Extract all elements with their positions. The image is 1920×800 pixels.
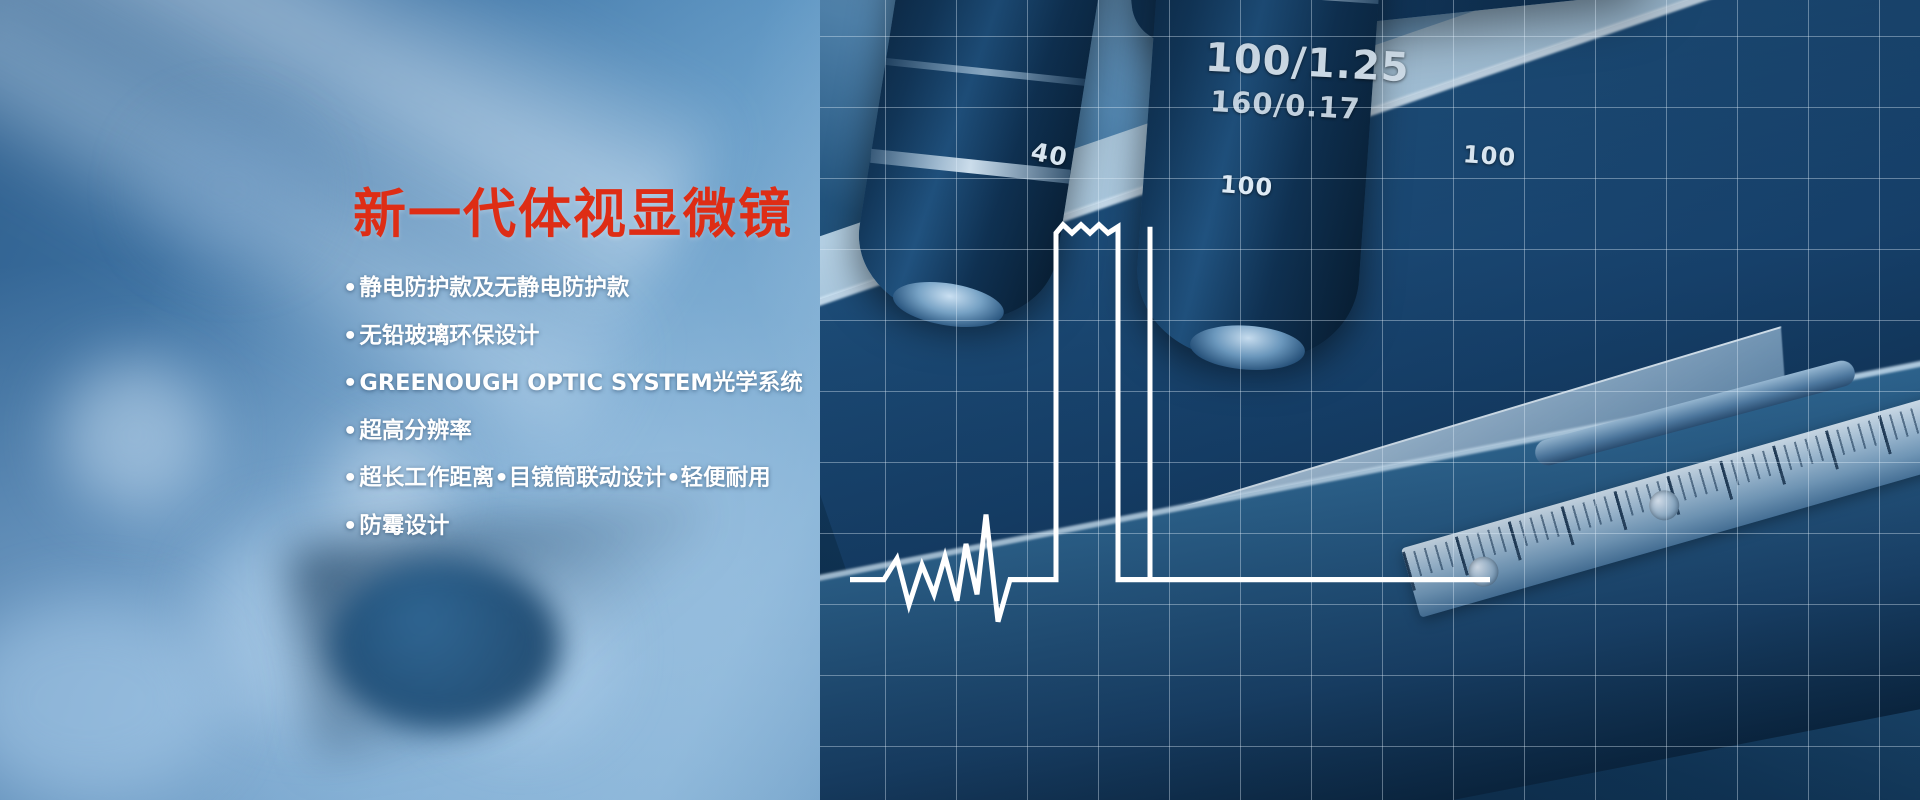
bokeh-blob bbox=[60, 360, 210, 510]
objective-band bbox=[885, 58, 1085, 86]
objective-label-100x-right: 100 bbox=[1462, 140, 1517, 172]
list-item: •超高分辨率 bbox=[343, 420, 983, 443]
list-item: •GREENOUGH OPTIC SYSTEM光学系统 bbox=[343, 372, 983, 395]
background-sample-blob bbox=[330, 560, 560, 730]
list-item-label: 静电防护款及无静电防护款 bbox=[359, 275, 629, 301]
objective-band bbox=[1157, 0, 1380, 4]
feature-list: •静电防护款及无静电防护款 •无铅玻璃环保设计 •GREENOUGH OPTIC… bbox=[343, 277, 983, 537]
bullet-marker-icon: • bbox=[343, 513, 357, 539]
list-item-label: 无铅玻璃环保设计 bbox=[359, 323, 539, 349]
bullet-marker-icon: • bbox=[343, 418, 357, 444]
list-item: •超长工作距离•目镜筒联动设计•轻便耐用 bbox=[343, 467, 983, 490]
list-item-label: 超长工作距离•目镜筒联动设计•轻便耐用 bbox=[359, 465, 770, 491]
bokeh-blob bbox=[150, 120, 310, 260]
list-item-label: 超高分辨率 bbox=[359, 418, 472, 444]
copy-block: 新一代体视显微镜 •静电防护款及无静电防护款 •无铅玻璃环保设计 •GREENO… bbox=[343, 188, 983, 562]
bullet-marker-icon: • bbox=[343, 275, 357, 301]
bullet-marker-icon: • bbox=[343, 323, 357, 349]
bullet-marker-icon: • bbox=[343, 370, 357, 396]
list-item: •防霉设计 bbox=[343, 515, 983, 538]
list-item: •静电防护款及无静电防护款 bbox=[343, 277, 983, 300]
promo-banner: 100/1.25 160/0.17 40 100 100 新一代体视显微镜 •静… bbox=[0, 0, 1920, 800]
list-item: •无铅玻璃环保设计 bbox=[343, 325, 983, 348]
microscope-scene: 100/1.25 160/0.17 40 100 100 bbox=[820, 0, 1920, 800]
page-title: 新一代体视显微镜 bbox=[353, 188, 983, 241]
objective-label-100x: 100 bbox=[1219, 170, 1274, 202]
list-item-label: 防霉设计 bbox=[359, 513, 449, 539]
bullet-marker-icon: • bbox=[343, 465, 357, 491]
list-item-label: GREENOUGH OPTIC SYSTEM光学系统 bbox=[359, 370, 802, 396]
